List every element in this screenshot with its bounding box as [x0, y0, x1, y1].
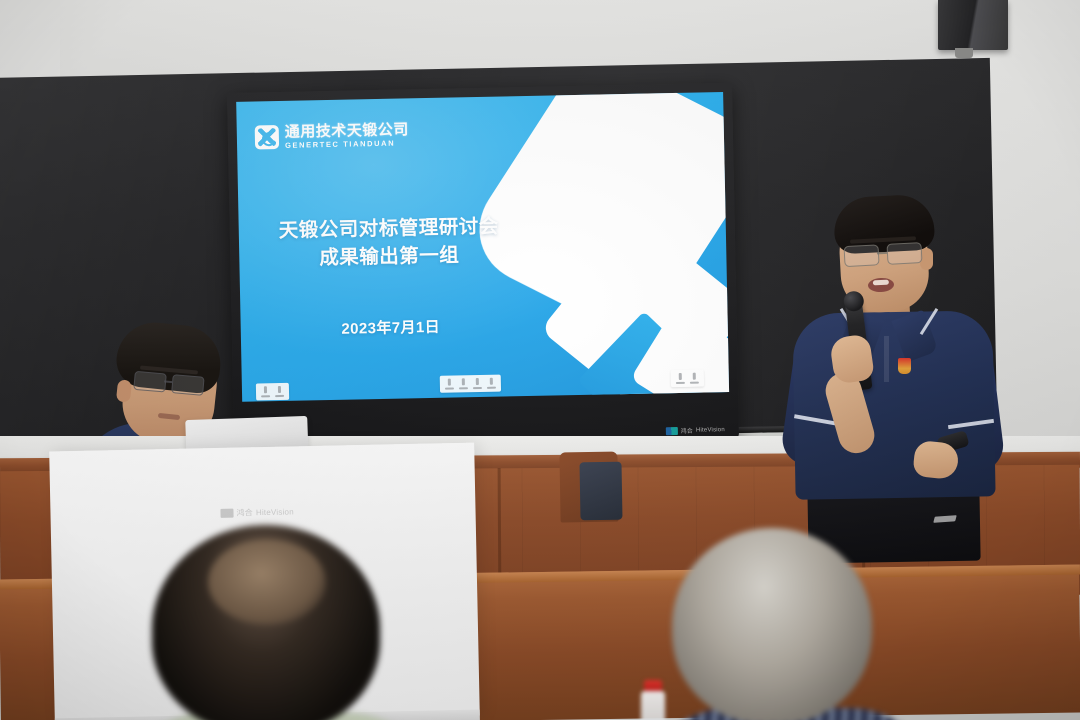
genertec-logo-mark [255, 125, 279, 149]
audience-head [672, 528, 872, 720]
presenter-shirt-placket [884, 336, 889, 382]
page-next-icon[interactable] [690, 373, 699, 384]
audience-member-front-left [130, 525, 420, 720]
display-brand-en: HiteVision [696, 427, 725, 434]
eraser-icon[interactable] [473, 378, 482, 389]
wall-display[interactable]: 通用技术天锻公司 GENERTEC TIANDUAN 天锻公司对标管理研讨会 成… [227, 83, 739, 448]
highlighter-icon[interactable] [459, 378, 468, 389]
shirt-emblem-icon [898, 358, 911, 374]
presenter [788, 186, 1018, 526]
microphone-head-icon [842, 290, 864, 312]
audience-member-front-right [660, 528, 920, 720]
display-bezel: 通用技术天锻公司 GENERTEC TIANDUAN 天锻公司对标管理研讨会 成… [227, 83, 739, 448]
display-brand-logo: 鸿合 HiteVision [665, 425, 724, 435]
annotate-icon[interactable] [445, 379, 454, 390]
slide-logo: 通用技术天锻公司 GENERTEC TIANDUAN [255, 122, 409, 150]
page-prev-icon[interactable] [676, 373, 685, 384]
screenshot-root: 通用技术天锻公司 GENERTEC TIANDUAN 天锻公司对标管理研讨会 成… [0, 0, 1080, 720]
speaker-bracket [955, 48, 973, 58]
eyeglasses-icon [844, 242, 927, 266]
hitevision-mark-icon [665, 427, 677, 435]
slide-logo-text: 通用技术天锻公司 GENERTEC TIANDUAN [285, 122, 409, 149]
slide-title-line2: 成果输出第一组 [239, 240, 540, 274]
audience-scalp [208, 539, 326, 625]
slide-logo-cn: 通用技术天锻公司 [285, 122, 409, 139]
slide-date: 2023年7月1日 [241, 314, 541, 341]
whiteboard-brand-cn: 鸿合 [236, 507, 253, 518]
wall-mounted-speaker [938, 0, 1008, 50]
presentation-slide[interactable]: 通用技术天锻公司 GENERTEC TIANDUAN 天锻公司对标管理研讨会 成… [236, 92, 729, 402]
presenter-polo-shirt [792, 310, 995, 499]
slide-toolbar-right[interactable] [671, 369, 704, 387]
whiteboard-brand-logo: 鸿合 HiteVision [220, 506, 293, 519]
meeting-chair-back [579, 462, 622, 521]
slide-toolbar-center[interactable] [440, 375, 501, 393]
hitevision-mark-icon [220, 509, 233, 518]
whiteboard-brand-en: HiteVision [256, 507, 294, 517]
slide-title: 天锻公司对标管理研讨会 成果输出第一组 [239, 212, 540, 275]
slide-logo-en: GENERTEC TIANDUAN [285, 139, 409, 149]
pointer-icon[interactable] [487, 378, 496, 389]
display-brand-cn: 鸿合 [680, 426, 693, 435]
